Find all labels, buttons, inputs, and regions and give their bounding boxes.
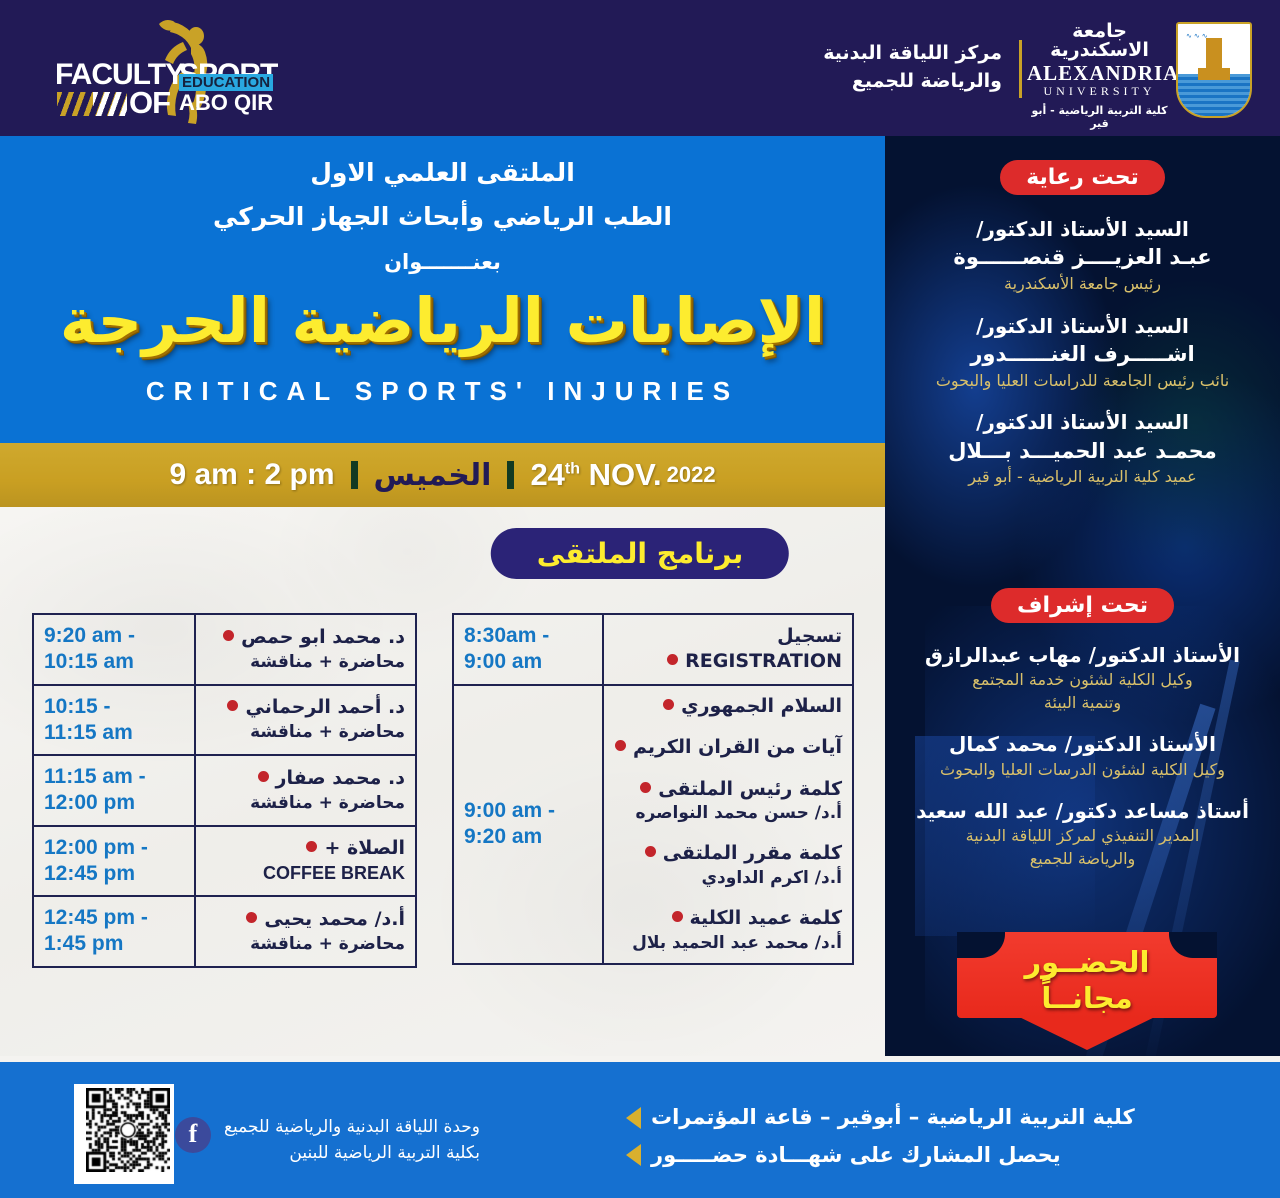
program-item-subtitle: محاضرة + مناقشة bbox=[206, 933, 405, 956]
bullet-triangle-icon-1 bbox=[626, 1107, 641, 1129]
person-entry: الأستاذ الدكتور/ محمد كمالوكيل الكلية لش… bbox=[885, 730, 1280, 781]
person-name: الأستاذ الدكتور/ محمد كمال bbox=[885, 730, 1280, 758]
person-title: نائب رئيس الجامعة للدراسات العليا والبحو… bbox=[885, 370, 1280, 392]
university-name-arabic: جامعة الاسكندرية bbox=[1027, 22, 1172, 60]
program-table-left: د. محمد ابو حمصمحاضرة + مناقشة9:20 am -1… bbox=[32, 613, 417, 968]
program-item-cell: د. محمد ابو حمصمحاضرة + مناقشة bbox=[195, 614, 416, 685]
program-time-line: 10:15 - bbox=[44, 694, 184, 720]
program-table-right-body: تسجيل REGISTRATION8:30am -9:00 amالسلام … bbox=[453, 614, 853, 964]
venue-text: كلية التربية الرياضية – أبوقير – قاعة ال… bbox=[651, 1102, 1135, 1134]
program-table-right: تسجيل REGISTRATION8:30am -9:00 amالسلام … bbox=[452, 613, 854, 965]
table-row: السلام الجمهوريآيات من القران الكريمكلمة… bbox=[453, 685, 853, 964]
event-year: 2022 bbox=[667, 462, 716, 488]
person-title: عميد كلية التربية الرياضية - أبو قير bbox=[885, 466, 1280, 488]
date-separator-1 bbox=[351, 461, 358, 489]
program-item-title: د. أحمد الرحماني bbox=[206, 695, 405, 721]
person-name: اشـــــرف الغنــــــدور bbox=[885, 340, 1280, 370]
patronage-sidebar: تحت رعاية السيد الأستاذ الدكتور/عبـد الع… bbox=[885, 136, 1280, 1062]
university-subtitle-english: UNIVERSITY bbox=[1027, 84, 1172, 100]
program-item-group: تسجيل REGISTRATION bbox=[614, 624, 842, 675]
date-time-bar: 9 am : 2 pm الخميس 24th NOV. 2022 bbox=[0, 443, 885, 507]
table-row: د. محمد صفارمحاضرة + مناقشة11:15 am -12:… bbox=[33, 755, 416, 826]
program-item-title: د. محمد ابو حمص bbox=[206, 625, 405, 651]
program-item-title: كلمة رئيس الملتقى bbox=[614, 777, 842, 803]
program-time-line: 1:45 pm bbox=[44, 931, 184, 957]
crest-sea bbox=[1178, 74, 1250, 116]
faculty-name-arabic: كلية التربية الرياضية - أبو قير bbox=[1027, 104, 1172, 130]
table-row: د. أحمد الرحمانيمحاضرة + مناقشة10:15 -11… bbox=[33, 685, 416, 756]
facebook-glyph: f bbox=[175, 1117, 211, 1153]
university-name-english: ALEXANDRIA bbox=[1027, 62, 1172, 84]
table-row: تسجيل REGISTRATION8:30am -9:00 am bbox=[453, 614, 853, 685]
program-item-subtitle: محاضرة + مناقشة bbox=[206, 721, 405, 744]
person-prefix: السيد الأستاذ الدكتور/ bbox=[885, 408, 1280, 436]
date-separator-2 bbox=[507, 461, 514, 489]
supervision-section: تحت إشراف الأستاذ الدكتور/ مهاب عبدالراز… bbox=[885, 588, 1280, 886]
program-item-cell: السلام الجمهوريآيات من القران الكريمكلمة… bbox=[603, 685, 853, 964]
supervision-list: الأستاذ الدكتور/ مهاب عبدالرازقوكيل الكل… bbox=[885, 641, 1280, 870]
program-item-cell: الصلاة +COFFEE BREAK bbox=[195, 826, 416, 897]
program-time-line: 12:00 pm bbox=[44, 790, 184, 816]
program-time-cell: 12:45 pm -1:45 pm bbox=[33, 896, 195, 967]
table-row: أ.د/ محمد يحيىمحاضرة + مناقشة12:45 pm -1… bbox=[33, 896, 416, 967]
bullet-triangle-icon-2 bbox=[626, 1144, 641, 1166]
bullet-dot-icon bbox=[246, 912, 257, 923]
program-item-title: السلام الجمهوري bbox=[614, 694, 842, 720]
crest-birds-icon: ∿∿∿ bbox=[1186, 32, 1210, 40]
poster-header: FACULTY SPORT OF EDUCATION ABO QIR مركز … bbox=[0, 0, 1280, 136]
program-time-cell: 8:30am -9:00 am bbox=[453, 614, 603, 685]
logo-of-text: OF bbox=[129, 85, 170, 121]
event-day-number: 24 bbox=[530, 457, 564, 492]
program-time-line: 9:00 am - bbox=[464, 798, 592, 824]
program-item-title: أ.د/ محمد يحيى bbox=[206, 907, 405, 933]
facebook-page-line1: وحدة اللياقة البدنية والرياضية للجميع bbox=[220, 1114, 480, 1140]
event-date: 24th NOV. bbox=[530, 457, 661, 493]
ribbon-line-1: الحضــور bbox=[957, 944, 1217, 980]
person-prefix: السيد الأستاذ الدكتور/ bbox=[885, 312, 1280, 340]
program-time-line: 12:45 pm bbox=[44, 861, 184, 887]
bullet-dot-icon bbox=[667, 654, 678, 665]
event-day-suffix: th bbox=[565, 461, 580, 478]
person-title: وكيل الكلية لشئون الدرسات العليا والبحوث bbox=[885, 759, 1280, 781]
person-name: الأستاذ الدكتور/ مهاب عبدالرازق bbox=[885, 641, 1280, 669]
person-entry: السيد الأستاذ الدكتور/عبـد العزيــــز قن… bbox=[885, 215, 1280, 296]
logo-abo-qir-text: ABO QIR bbox=[179, 90, 273, 116]
program-time-cell: 11:15 am -12:00 pm bbox=[33, 755, 195, 826]
program-time-line: 12:00 pm - bbox=[44, 835, 184, 861]
program-item-title: د. محمد صفار bbox=[206, 766, 405, 792]
program-item-subtitle: أ.د/ حسن محمد النواصره bbox=[614, 802, 842, 825]
qr-code[interactable] bbox=[74, 1084, 174, 1184]
person-name: أستاذ مساعد دكتور/ عبد الله سعيد bbox=[885, 797, 1280, 825]
program-item-title: كلمة مقرر الملتقى bbox=[614, 841, 842, 867]
patronage-section: تحت رعاية السيد الأستاذ الدكتور/عبـد الع… bbox=[885, 160, 1280, 505]
patronage-list: السيد الأستاذ الدكتور/عبـد العزيــــز قن… bbox=[885, 215, 1280, 489]
program-item-group: الصلاة +COFFEE BREAK bbox=[206, 836, 405, 886]
person-entry: أستاذ مساعد دكتور/ عبد الله سعيدالمدير ا… bbox=[885, 797, 1280, 870]
qr-code-canvas[interactable] bbox=[86, 1088, 170, 1172]
free-attendance-ribbon: الحضــور مجانــاً bbox=[957, 932, 1217, 1050]
program-item-cell: د. محمد صفارمحاضرة + مناقشة bbox=[195, 755, 416, 826]
program-time-line: 11:15 am bbox=[44, 720, 184, 746]
table-row: د. محمد ابو حمصمحاضرة + مناقشة9:20 am -1… bbox=[33, 614, 416, 685]
program-item-group: د. أحمد الرحمانيمحاضرة + مناقشة bbox=[206, 695, 405, 744]
program-time-cell: 10:15 -11:15 am bbox=[33, 685, 195, 756]
program-item-group: كلمة عميد الكليةأ.د/ محمد عبد الحميد بلا… bbox=[614, 906, 842, 955]
facebook-icon[interactable]: f bbox=[175, 1117, 211, 1153]
person-title: والرياضة للجميع bbox=[885, 848, 1280, 870]
fitness-center-line2: والرياضة للجميع bbox=[772, 68, 1002, 96]
program-item-group: السلام الجمهوري bbox=[614, 694, 842, 720]
person-entry: السيد الأستاذ الدكتور/محمـد عبد الحميـــ… bbox=[885, 408, 1280, 489]
bullet-dot-icon bbox=[258, 771, 269, 782]
person-title: وتنمية البيئة bbox=[885, 692, 1280, 714]
program-item-title: تسجيل REGISTRATION bbox=[614, 624, 842, 675]
program-time-line: 9:20 am - bbox=[44, 623, 184, 649]
program-time-line: 11:15 am - bbox=[44, 764, 184, 790]
program-item-subtitle: محاضرة + مناقشة bbox=[206, 792, 405, 815]
table-row: الصلاة +COFFEE BREAK12:00 pm -12:45 pm bbox=[33, 826, 416, 897]
poster-footer: f وحدة اللياقة البدنية والرياضية للجميع … bbox=[0, 1062, 1280, 1198]
program-item-title: الصلاة + bbox=[206, 836, 405, 862]
person-title: المدير التنفيذي لمركز اللياقة البدنية bbox=[885, 825, 1280, 847]
program-item-cell: تسجيل REGISTRATION bbox=[603, 614, 853, 685]
event-time: 9 am : 2 pm bbox=[169, 458, 334, 492]
program-item-cell: أ.د/ محمد يحيىمحاضرة + مناقشة bbox=[195, 896, 416, 967]
header-divider bbox=[1019, 40, 1022, 98]
person-entry: الأستاذ الدكتور/ مهاب عبدالرازقوكيل الكل… bbox=[885, 641, 1280, 714]
venue-info: كلية التربية الرياضية – أبوقير – قاعة ال… bbox=[626, 1102, 1246, 1177]
program-table-left-body: د. محمد ابو حمصمحاضرة + مناقشة9:20 am -1… bbox=[33, 614, 416, 967]
crest-lighthouse-icon bbox=[1206, 38, 1222, 74]
program-time-line: 9:20 am bbox=[464, 824, 592, 850]
program-item-group: كلمة رئيس الملتقىأ.د/ حسن محمد النواصره bbox=[614, 777, 842, 826]
program-time-cell: 9:20 am -10:15 am bbox=[33, 614, 195, 685]
bullet-dot-icon bbox=[227, 700, 238, 711]
patronage-label-pill: تحت رعاية bbox=[1000, 160, 1165, 195]
logo-education-badge: EDUCATION bbox=[179, 74, 273, 91]
event-main-title: الإصابات الرياضية الحرجة bbox=[0, 284, 885, 358]
bullet-dot-icon bbox=[645, 846, 656, 857]
program-item-group: كلمة مقرر الملتقىأ.د/ اكرم الداودي bbox=[614, 841, 842, 890]
person-entry: السيد الأستاذ الدكتور/اشـــــرف الغنــــ… bbox=[885, 312, 1280, 393]
program-badge: برنامج الملتقى bbox=[491, 528, 789, 579]
program-time-cell: 12:00 pm -12:45 pm bbox=[33, 826, 195, 897]
event-weekday: الخميس bbox=[374, 458, 492, 493]
faculty-of-sport-education-logo: FACULTY SPORT OF EDUCATION ABO QIR bbox=[55, 14, 315, 126]
person-name: عبـد العزيــــز قنصــــــوة bbox=[885, 243, 1280, 273]
program-item-subtitle: أ.د/ محمد عبد الحميد بلال bbox=[614, 932, 842, 955]
alexandria-university-wordmark: جامعة الاسكندرية ALEXANDRIA UNIVERSITY ك… bbox=[1027, 22, 1172, 130]
university-crest-icon: ∿∿∿ bbox=[1176, 22, 1252, 118]
person-title: وكيل الكلية لشئون خدمة المجتمع bbox=[885, 669, 1280, 691]
logo-white-slashes bbox=[93, 92, 127, 116]
program-time-line: 12:45 pm - bbox=[44, 905, 184, 931]
fitness-center-name: مركز اللياقة البدنية والرياضة للجميع bbox=[772, 40, 1002, 95]
event-title-english: CRITICAL SPORTS' INJURIES bbox=[0, 376, 885, 407]
event-subtitle-label: بعنـــــــوان bbox=[0, 250, 885, 274]
fitness-center-line1: مركز اللياقة البدنية bbox=[772, 40, 1002, 68]
program-time-line: 9:00 am bbox=[464, 649, 592, 675]
facebook-page-line2: بكلية التربية الرياضية للبنين bbox=[220, 1140, 480, 1166]
bullet-dot-icon bbox=[663, 699, 674, 710]
ribbon-line-2: مجانــاً bbox=[957, 980, 1217, 1016]
supervision-label-pill: تحت إشراف bbox=[991, 588, 1174, 623]
venue-row: كلية التربية الرياضية – أبوقير – قاعة ال… bbox=[626, 1102, 1246, 1134]
program-item-subtitle: محاضرة + مناقشة bbox=[206, 651, 405, 674]
event-topic-title: الطب الرياضي وأبحاث الجهاز الحركي bbox=[0, 202, 885, 231]
facebook-page-name: وحدة اللياقة البدنية والرياضية للجميع بك… bbox=[220, 1114, 480, 1167]
program-item-group: د. محمد صفارمحاضرة + مناقشة bbox=[206, 766, 405, 815]
program-item-cell: د. أحمد الرحمانيمحاضرة + مناقشة bbox=[195, 685, 416, 756]
program-item-group: د. محمد ابو حمصمحاضرة + مناقشة bbox=[206, 625, 405, 674]
certificate-row: يحصل المشارك على شهـــادة حضـــــور bbox=[626, 1140, 1246, 1172]
person-title: رئيس جامعة الأسكندرية bbox=[885, 273, 1280, 295]
ribbon-text: الحضــور مجانــاً bbox=[957, 944, 1217, 1017]
person-prefix: السيد الأستاذ الدكتور/ bbox=[885, 215, 1280, 243]
program-item-group: أ.د/ محمد يحيىمحاضرة + مناقشة bbox=[206, 907, 405, 956]
program-item-title: كلمة عميد الكلية bbox=[614, 906, 842, 932]
title-panel: الملتقى العلمي الاول الطب الرياضي وأبحاث… bbox=[0, 136, 885, 443]
program-item-title: آيات من القران الكريم bbox=[614, 735, 842, 761]
bullet-dot-icon bbox=[640, 782, 651, 793]
bullet-dot-icon bbox=[306, 841, 317, 852]
poster-root: FACULTY SPORT OF EDUCATION ABO QIR مركز … bbox=[0, 0, 1280, 1198]
bullet-dot-icon bbox=[223, 630, 234, 641]
bullet-dot-icon bbox=[672, 911, 683, 922]
program-time-cell: 9:00 am -9:20 am bbox=[453, 685, 603, 964]
bullet-dot-icon bbox=[615, 740, 626, 751]
program-item-subtitle: أ.د/ اكرم الداودي bbox=[614, 867, 842, 890]
event-series-title: الملتقى العلمي الاول bbox=[0, 158, 885, 187]
person-name: محمـد عبد الحميـــد بـــلال bbox=[885, 437, 1280, 467]
program-item-group: آيات من القران الكريم bbox=[614, 735, 842, 761]
certificate-text: يحصل المشارك على شهـــادة حضـــــور bbox=[651, 1140, 1061, 1172]
program-item-subtitle-en: COFFEE BREAK bbox=[206, 861, 405, 885]
event-month: NOV. bbox=[589, 457, 662, 492]
program-time-line: 8:30am - bbox=[464, 623, 592, 649]
program-time-line: 10:15 am bbox=[44, 649, 184, 675]
